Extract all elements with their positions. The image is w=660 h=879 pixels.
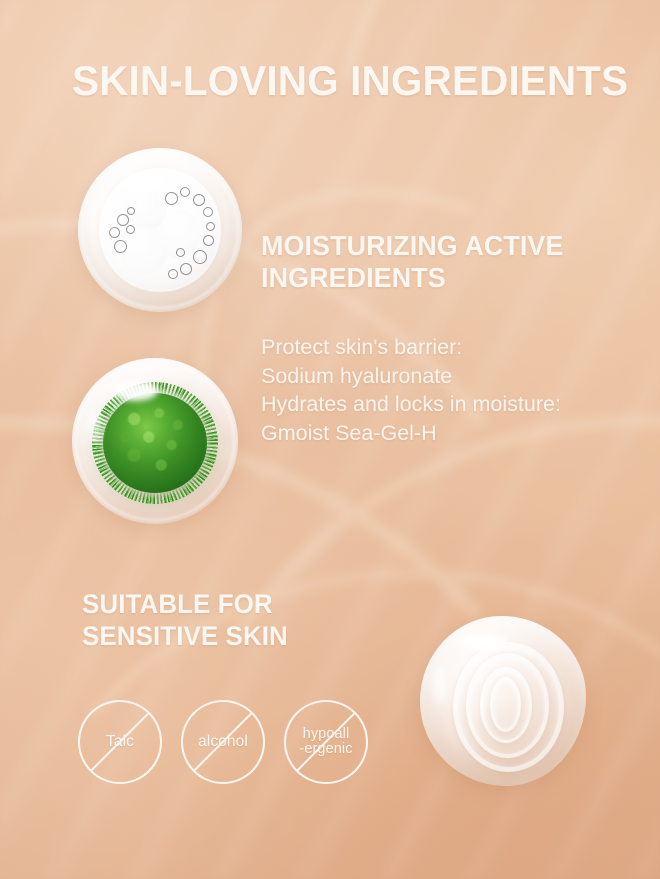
gel-droplet-image: [420, 616, 586, 786]
moisturizing-heading: MOISTURIZING ACTIVE INGREDIENTS: [261, 230, 597, 295]
badge-label: alcohol: [198, 734, 248, 750]
page-title: SKIN-LOVING INGREDIENTS: [72, 60, 628, 103]
sensitive-heading: SUITABLE FOR SENSITIVE SKIN: [82, 589, 370, 652]
free-from-badge-group: Talc alcohol hypoall -ergenic: [78, 700, 368, 784]
algae-texture: [103, 393, 207, 493]
body-line-4: Gmoist Sea-Gel-H: [261, 419, 621, 448]
badge-label: Talc: [106, 734, 134, 750]
gel-sphere-image: [78, 148, 242, 312]
body-line-3: Hydrates and locks in moisture:: [261, 390, 621, 419]
body-line-2: Sodium hyaluronate: [261, 362, 621, 391]
badge-label: hypoall -ergenic: [299, 727, 352, 758]
badge-alcohol-free: alcohol: [181, 700, 265, 784]
droplet-ring-4: [490, 677, 521, 732]
body-line-1: Protect skin's barrier:: [261, 333, 621, 362]
algae-sphere-image: [72, 358, 238, 524]
algae-ball: [103, 393, 207, 493]
badge-label-line-2: -ergenic: [299, 742, 352, 757]
moisturizing-body: Protect skin's barrier: Sodium hyalurona…: [261, 333, 621, 447]
badge-talc-free: Talc: [78, 700, 162, 784]
badge-label-line-1: hypoall: [299, 727, 352, 742]
badge-hypoallergenic: hypoall -ergenic: [284, 700, 368, 784]
product-infographic-poster: SKIN-LOVING INGREDIENTS MOISTURIZING ACT…: [0, 0, 660, 879]
